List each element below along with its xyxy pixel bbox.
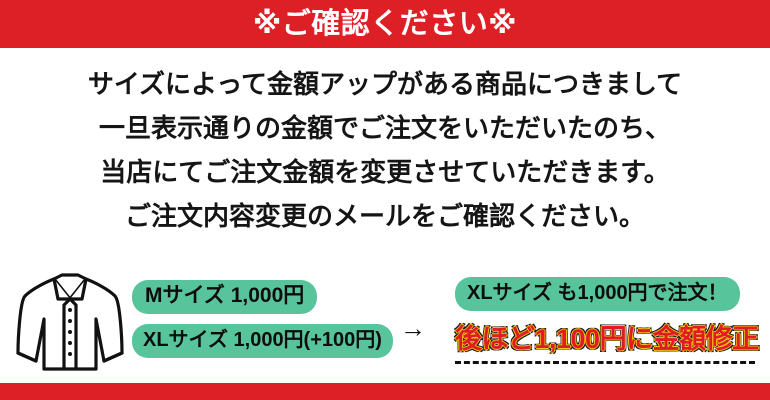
before-prices: Mサイズ 1,000円 XLサイズ 1,000円(+100円) — [132, 280, 382, 358]
page-title: ※ご確認ください※ — [253, 10, 517, 39]
dashed-underline — [455, 361, 755, 364]
footer-bar — [0, 383, 770, 400]
price-correction-note: 後ほど1,100円に金額修正 — [455, 323, 760, 355]
header-bar: ※ご確認ください※ — [0, 0, 770, 48]
dress-shirt-icon — [14, 269, 126, 377]
xl-order-price-pill: XLサイズ も1,000円で注文！ — [455, 277, 740, 311]
notice-line-2: 一旦表示通りの金額でご注文をいただいたのち、 — [0, 106, 770, 150]
after-prices: XLサイズ も1,000円で注文！ 後ほど1,100円に金額修正 — [455, 277, 760, 364]
arrow-right-icon: → — [400, 315, 426, 341]
notice-line-1: サイズによって金額アップがある商品につきまして — [0, 62, 770, 106]
notice-banner: ※ご確認ください※ サイズによって金額アップがある商品につきまして 一旦表示通り… — [0, 0, 770, 400]
notice-paragraph: サイズによって金額アップがある商品につきまして 一旦表示通りの金額でご注文をいた… — [0, 62, 770, 238]
notice-line-4: ご注文内容変更のメールをご確認ください。 — [0, 194, 770, 238]
m-size-price-pill: Mサイズ 1,000円 — [132, 280, 317, 314]
xl-size-price-pill: XLサイズ 1,000円(+100円) — [132, 324, 393, 358]
price-comparison-row: Mサイズ 1,000円 XLサイズ 1,000円(+100円) → XLサイズ … — [0, 265, 770, 380]
notice-line-3: 当店にてご注文金額を変更させていただきます。 — [0, 150, 770, 194]
